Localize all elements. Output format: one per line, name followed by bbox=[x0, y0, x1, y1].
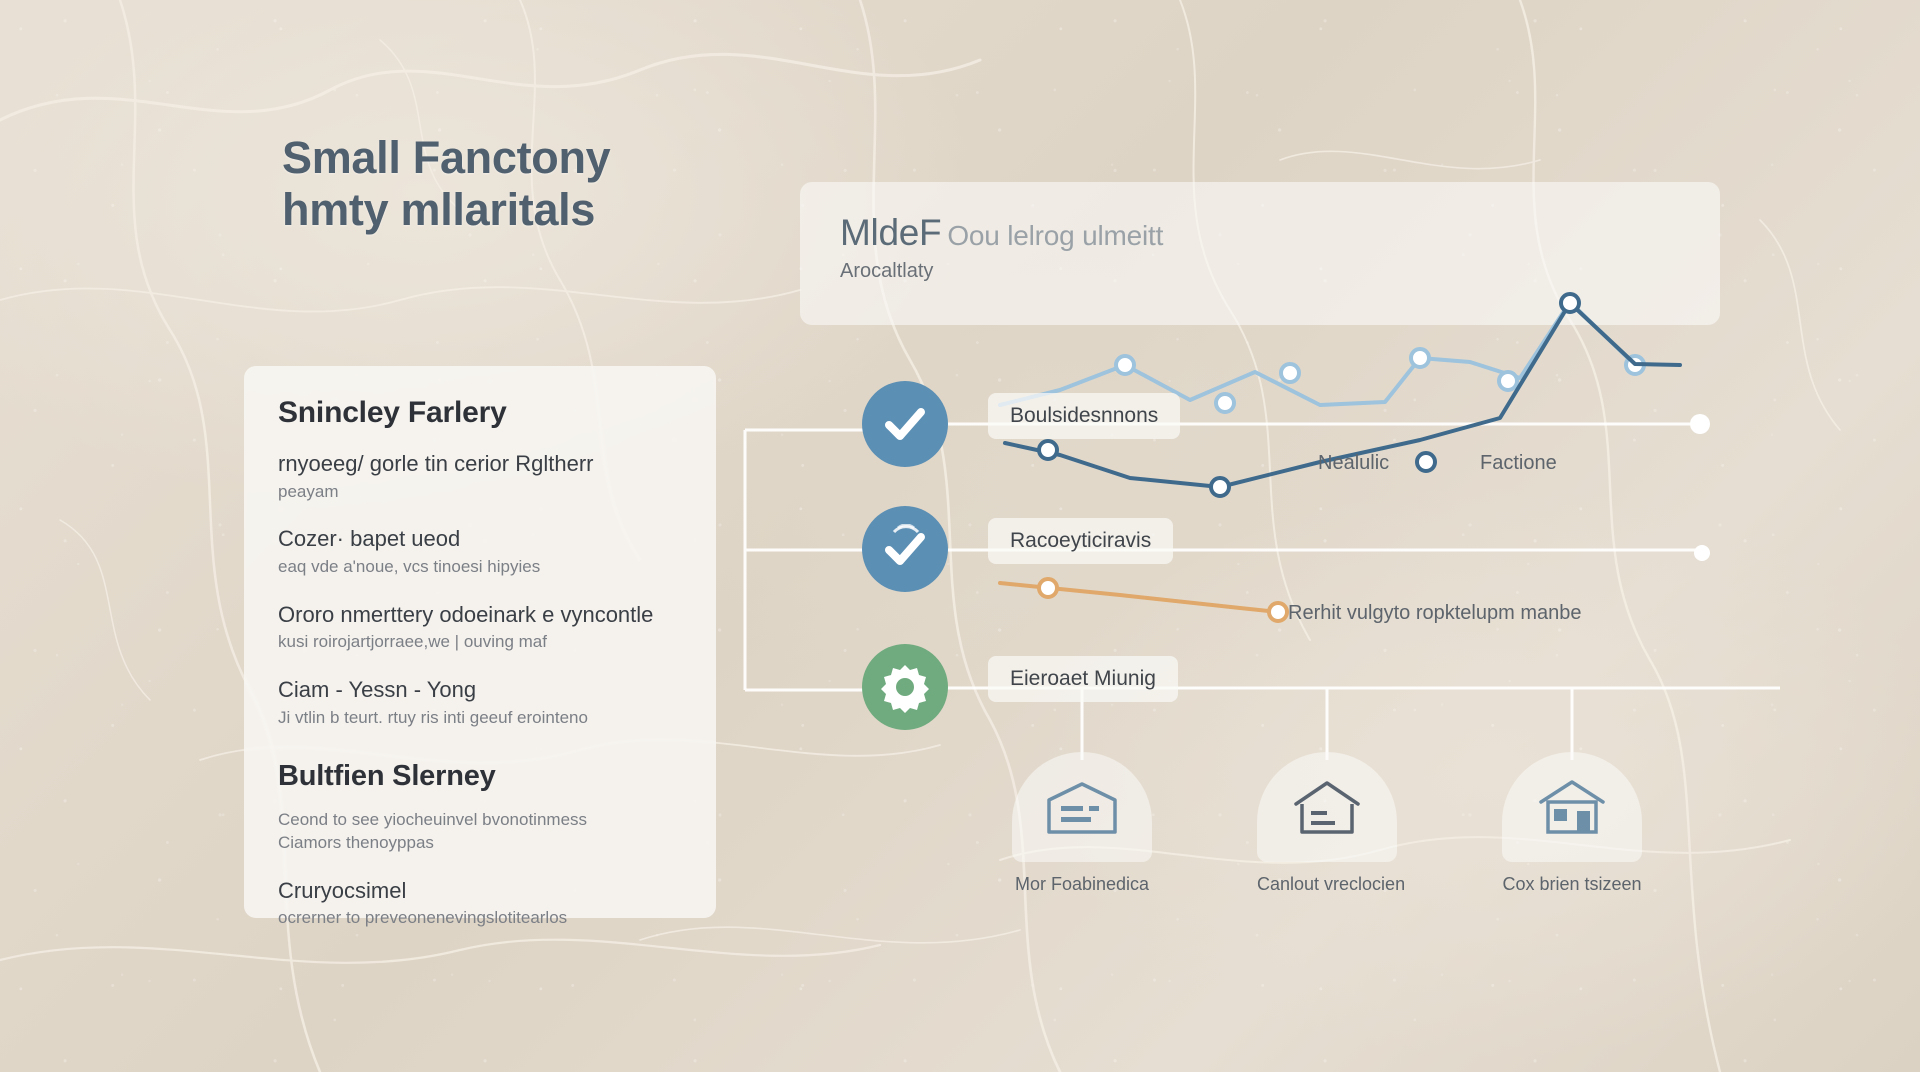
chart-label-rerhit: Rerhit vulgyto ropktelupm manbe bbox=[1288, 602, 1581, 625]
right-header-panel: MldeF Oou lelrog ulmeitt Arocaltlaty bbox=[800, 182, 1720, 325]
page-title-line-1: Small Fanctony bbox=[282, 132, 752, 184]
list-item-desc: Ji vtlin b teurt. rtuy ris inti geeuf er… bbox=[278, 707, 682, 730]
list-item-desc: ocrerner to preveonenevingslotitearlos bbox=[278, 907, 682, 930]
warehouse-icon bbox=[1045, 778, 1119, 836]
house-node-home-door[interactable]: Cox brien tsizeen bbox=[1502, 752, 1642, 895]
list-item[interactable]: Cruryocsimel ocrerner to preveonenevings… bbox=[278, 877, 682, 930]
list-item-title: Ororo nmerttery odoeinark e vyncontle bbox=[278, 601, 682, 629]
check-icon bbox=[880, 399, 930, 449]
list-item[interactable]: Ororo nmerttery odoeinark e vyncontle ku… bbox=[278, 601, 682, 654]
list-item-title: Ciam - Yessn - Yong bbox=[278, 676, 682, 704]
list-item[interactable]: Ciam - Yessn - Yong Ji vtlin b teurt. rt… bbox=[278, 676, 682, 729]
house-icon bbox=[1290, 778, 1364, 836]
house-caption: Canlout vreclocien bbox=[1257, 874, 1397, 895]
list-item-title: Ceond to see yiocheuinvel bvonotinmess bbox=[278, 809, 682, 832]
check-badge-primary[interactable] bbox=[862, 381, 948, 467]
gear-icon bbox=[879, 661, 931, 713]
house-node-warehouse[interactable]: Mor Foabinedica bbox=[1012, 752, 1152, 895]
list-item-title: rnyoeeg/ gorle tin cerior Rgltherr bbox=[278, 450, 682, 478]
badge-label-primary[interactable]: Boulsidesnnons bbox=[988, 393, 1180, 439]
left-card-heading-2: Bultfien Slerney bbox=[278, 760, 682, 793]
house-icon-container bbox=[1012, 752, 1152, 862]
left-card-heading-1: Snincley Farlery bbox=[278, 396, 682, 430]
house-caption: Mor Foabinedica bbox=[1012, 874, 1152, 895]
badge-label-tertiary[interactable]: Eieroaet Miunig bbox=[988, 656, 1178, 702]
gear-badge[interactable] bbox=[862, 644, 948, 730]
list-item[interactable]: Ceond to see yiocheuinvel bvonotinmess C… bbox=[278, 809, 682, 855]
check-badge-secondary[interactable] bbox=[862, 506, 948, 592]
list-item[interactable]: Cozer· bapet ueod eaq vde a'noue, vcs ti… bbox=[278, 525, 682, 578]
right-panel-title-row: MldeF Oou lelrog ulmeitt bbox=[840, 212, 1680, 254]
house-icon-container bbox=[1502, 752, 1642, 862]
house-node-house[interactable]: Canlout vreclocien bbox=[1257, 752, 1397, 895]
list-item-title: Cruryocsimel bbox=[278, 877, 682, 905]
infographic-root: Small Fanctony hmty mllaritals Snincley … bbox=[0, 0, 1920, 1072]
page-title: Small Fanctony hmty mllaritals bbox=[282, 132, 752, 236]
right-panel-title-rest: Oou lelrog ulmeitt bbox=[947, 220, 1163, 252]
right-panel-title-strong: MldeF bbox=[840, 212, 941, 254]
chart-label-nealulic: Nealulic bbox=[1318, 452, 1389, 475]
list-item-title: Cozer· bapet ueod bbox=[278, 525, 682, 553]
list-item-desc: kusi roirojartjorraee,we | ouving maf bbox=[278, 631, 682, 654]
list-item-desc: peayam bbox=[278, 481, 682, 504]
house-icon-container bbox=[1257, 752, 1397, 862]
right-panel-subtitle: Arocaltlaty bbox=[840, 260, 1680, 283]
check-icon bbox=[880, 524, 930, 574]
home-door-icon bbox=[1535, 778, 1609, 836]
page-title-line-2: hmty mllaritals bbox=[282, 184, 752, 236]
list-item-desc: eaq vde a'noue, vcs tinoesi hipyies bbox=[278, 556, 682, 579]
list-item-desc: Ciamors thenoyppas bbox=[278, 832, 682, 855]
list-item[interactable]: rnyoeeg/ gorle tin cerior Rgltherr peaya… bbox=[278, 450, 682, 503]
left-info-card: Snincley Farlery rnyoeeg/ gorle tin ceri… bbox=[244, 366, 716, 918]
badge-label-secondary[interactable]: Racoeyticiravis bbox=[988, 518, 1173, 564]
house-caption: Cox brien tsizeen bbox=[1502, 874, 1642, 895]
chart-label-factione: Factione bbox=[1480, 452, 1557, 475]
